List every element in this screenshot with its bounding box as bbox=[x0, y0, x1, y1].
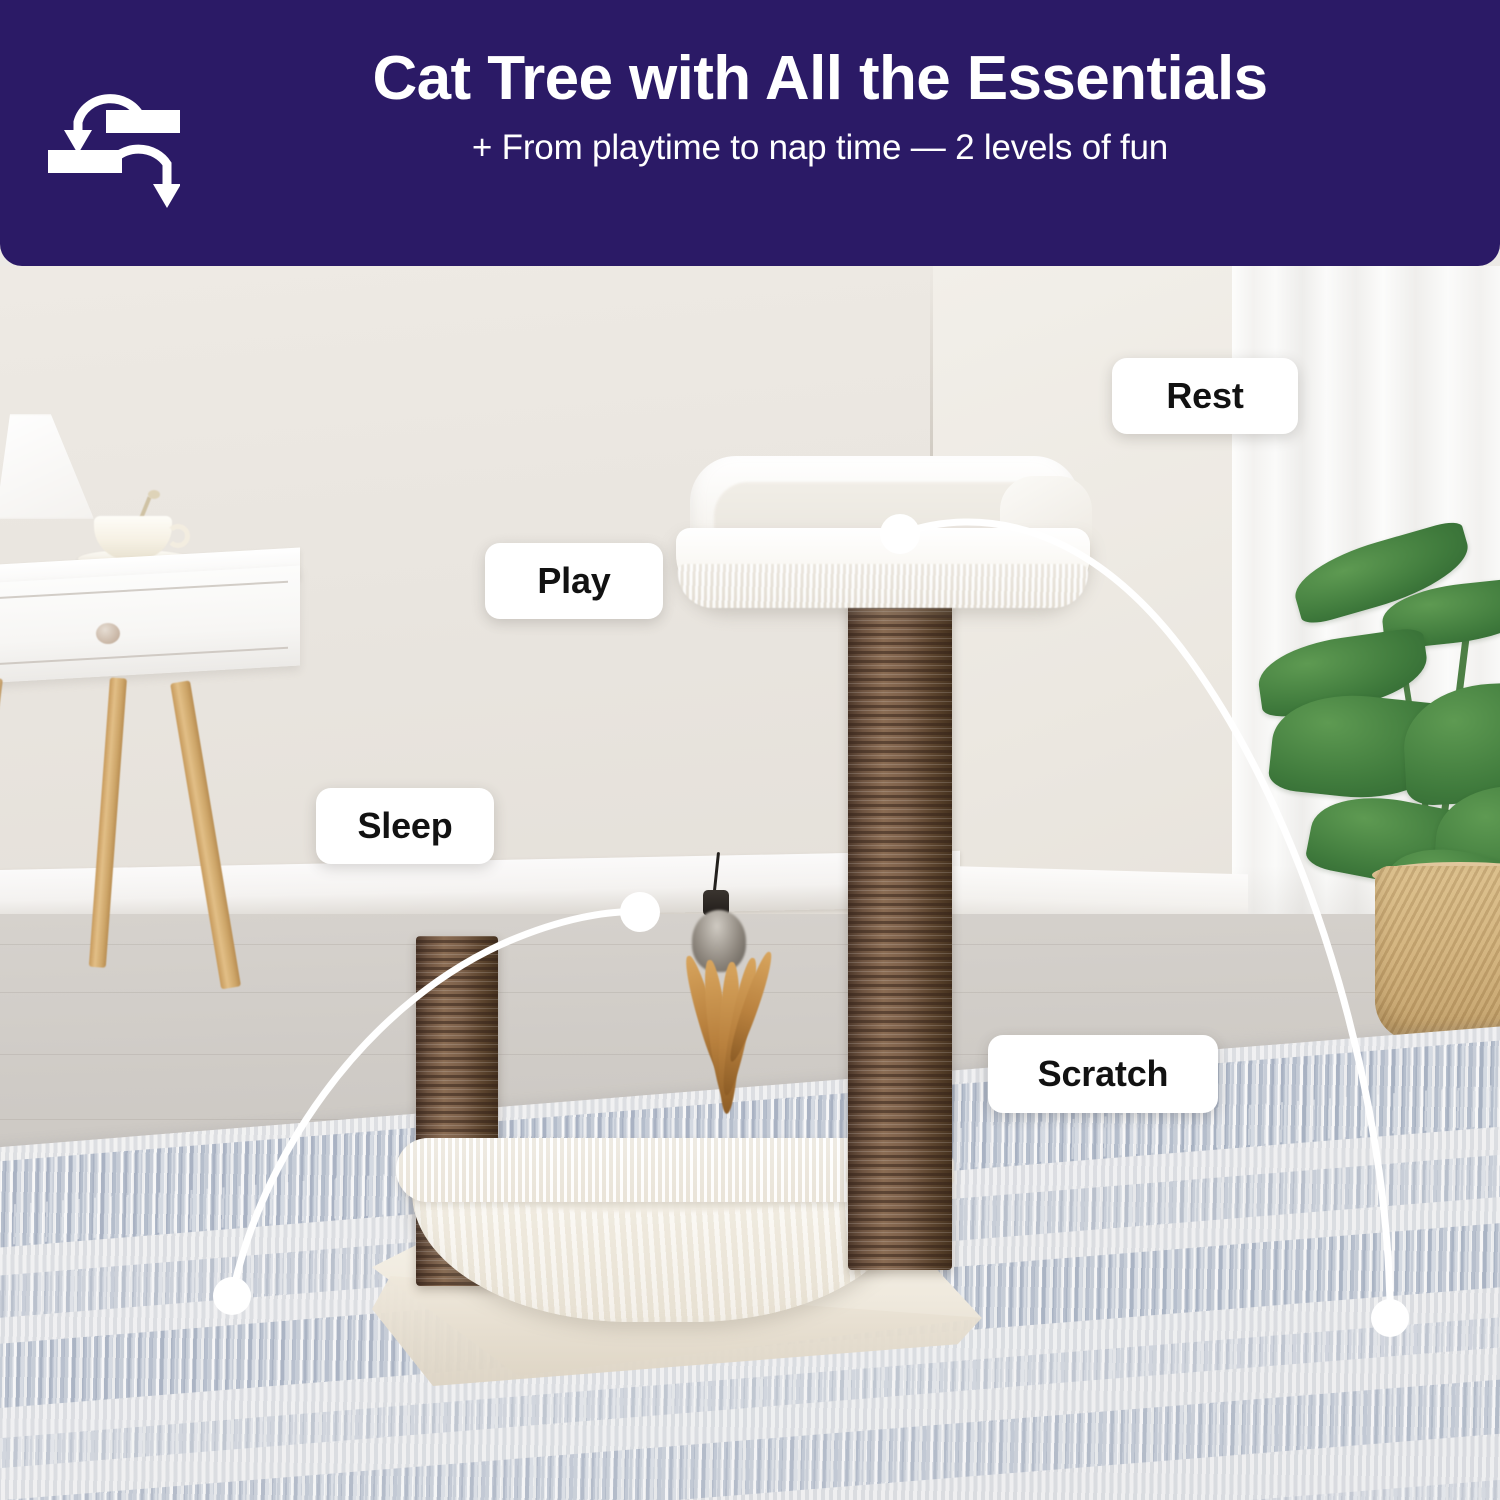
callout-badge-sleep[interactable]: Sleep bbox=[316, 788, 494, 864]
cat-tree bbox=[0, 266, 1500, 1500]
infographic-stage: Rest Play Sleep Scratch Cat Tree with Al… bbox=[0, 0, 1500, 1500]
callout-badge-play[interactable]: Play bbox=[485, 543, 663, 619]
callout-badge-scratch[interactable]: Scratch bbox=[988, 1035, 1218, 1113]
header-title: Cat Tree with All the Essentials bbox=[200, 46, 1440, 112]
scratching-post-right bbox=[848, 566, 952, 1270]
toy-fluff bbox=[692, 910, 746, 972]
product-photo bbox=[0, 266, 1500, 1500]
header-banner: Cat Tree with All the Essentials + From … bbox=[0, 0, 1500, 266]
header-subtitle: + From playtime to nap time — 2 levels o… bbox=[200, 128, 1440, 167]
two-level-swap-arrows-icon bbox=[48, 72, 180, 212]
top-perch-trim bbox=[678, 564, 1088, 608]
callout-badge-rest[interactable]: Rest bbox=[1112, 358, 1298, 434]
